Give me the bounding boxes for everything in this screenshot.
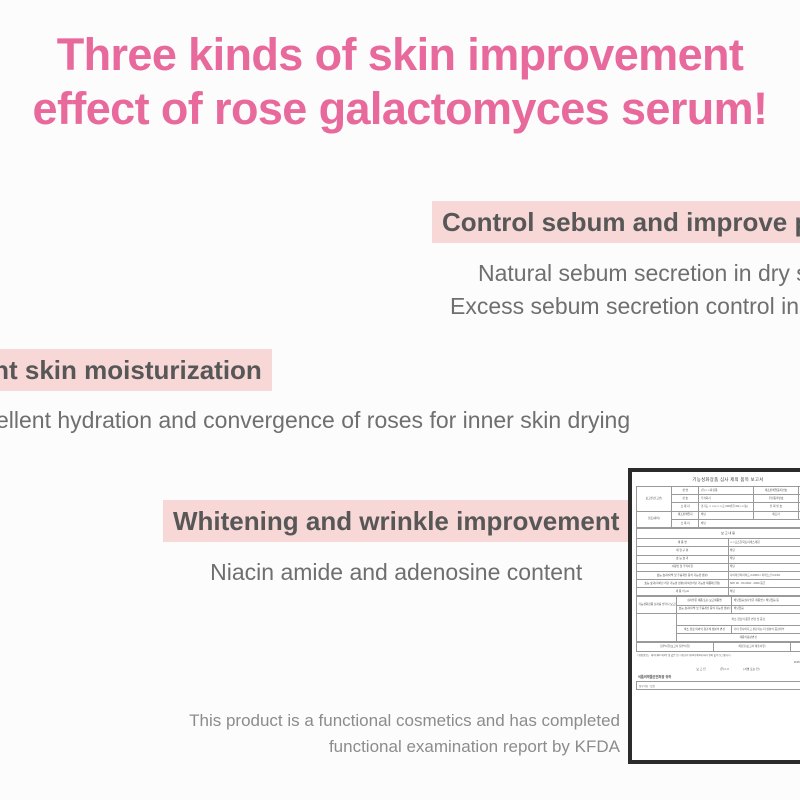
cell-label: 제품의용량변경 xyxy=(677,634,800,642)
table-row: 효능·효과(미백 및 주름개선 등의 기능성 성분) 나이아신아마이드 0.00… xyxy=(637,571,800,579)
cell-label: 효 능 효 과 xyxy=(637,555,729,563)
promo-page: Three kinds of skin improvement effect o… xyxy=(0,0,800,800)
cell-value: 나이아신아마이드 0.000% / 아데노신 0.04% xyxy=(728,571,800,579)
benefit-body-line-2: Excess sebum secretion control in oily s xyxy=(450,290,800,323)
cell-value: 해당 xyxy=(728,563,800,571)
table-row: 참조(대리) 제조판매업자 해당 제조자 해당 xyxy=(637,511,800,519)
cell-label: 제조판매업등록번호 xyxy=(754,487,798,495)
cell-value: 기타 유사하다고 판단되는 타 성분의 증감여부 xyxy=(732,626,800,634)
benefit-body-line-1: Niacin amide and adenosine content xyxy=(163,556,629,589)
kfda-footnote: This product is a functional cosmetics a… xyxy=(120,708,620,760)
cell-label: 첨부서류(보고서 첨부서류) xyxy=(637,643,714,651)
relation-group-label: 기능성화장품 심사를 받거나 보고한 품목과의 관계 xyxy=(637,597,677,613)
cell-label: 성 명 xyxy=(671,487,699,495)
certificate-date: 2016년 10월 10일 xyxy=(636,660,800,664)
reporter-group-label: 보고인(신고인) xyxy=(637,487,672,512)
table-row: 기능성화장품 심사를 받거나 보고한 품목과의 관계 심사받은 제품 또는 보고… xyxy=(637,597,800,605)
certificate-document: 기능성화장품 심사 제외 품목 보고서 [제 보고인(신고인) 성 명 (주)ㅇ… xyxy=(632,472,800,760)
table-row: 사용법 및 주의사항 해당 xyxy=(637,563,800,571)
certificate-footer-note: 첨부서류 : 없음 xyxy=(636,681,800,690)
kfda-certificate-image: 기능성화장품 심사 제외 품목 보고서 [제 보고인(신고인) 성 명 (주)ㅇ… xyxy=(628,468,800,764)
table-row: 효능·효과(자외선 차단 기능성 성분)(자외선차단 기능성 제품에 한함) S… xyxy=(637,580,800,588)
cell-value: 해당 xyxy=(728,555,800,563)
benefit-heading-moisturization: tant skin moisturization xyxy=(0,349,272,391)
cell-value: 해당 xyxy=(699,519,800,527)
certificate-agency: 식품의약품안전처장 귀하 xyxy=(636,674,800,679)
cell-label: 효능·효과(자외선 차단 기능성 성분)(자외선차단 기능성 제품에 한함) xyxy=(637,580,729,588)
page-title-line-2: effect of rose galactomyces serum! xyxy=(0,82,800,136)
certificate-signature-row: 보 고 인 (주)ㅇㅇ (서명 또는 인) xyxy=(636,667,800,671)
cell-value: SPF 00 · PA 0000 · 0000 등급 xyxy=(728,580,800,588)
cell-value: 해당 xyxy=(699,511,754,519)
benefit-body-moisturization: ellent hydration and convergence of rose… xyxy=(0,404,630,437)
benefit-body-whitening-wrinkle: Niacin amide and adenosine content xyxy=(163,556,629,589)
benefit-body-line-1: Natural sebum secretion in dry s xyxy=(478,257,800,290)
cell-label: 제조판매업자 xyxy=(671,511,699,519)
page-title-line-1: Three kinds of skin improvement xyxy=(0,28,800,82)
signature-role: 보 고 인 xyxy=(696,667,705,671)
cell-label: 제 품 의 pH xyxy=(637,588,729,596)
agent-group-label: 참조(대리) xyxy=(637,511,672,527)
certificate-relation-table: 기능성화장품 심사를 받거나 보고한 품목과의 관계 심사받은 제품 또는 보고… xyxy=(636,596,800,642)
cell-label: 전 화 번 호 xyxy=(754,503,798,511)
certificate-title-row: 기능성화장품 심사 제외 품목 보고서 [제 xyxy=(636,477,800,483)
cell-label: 제 품 명 xyxy=(637,539,729,547)
cell-label: 제조자 xyxy=(754,511,798,519)
cell-value: 주식회사 xyxy=(699,495,754,503)
page-title: Three kinds of skin improvement effect o… xyxy=(0,28,800,136)
cell-value: (주)ㅇㅇ화장품 xyxy=(699,487,754,495)
table-row: 보 고 내 용 xyxy=(637,528,800,538)
kfda-footnote-line-2: functional examination report by KFDA xyxy=(120,734,620,760)
benefit-body-sebum-control: Natural sebum secretion in dry s Excess … xyxy=(432,257,800,323)
cell-label: 효능·효과(미백 및 주름개선 등의 기능성 성분) 함량의 증감 xyxy=(677,605,732,613)
cell-label: 소 재 지 xyxy=(671,519,699,527)
table-row: 제 품 의 pH 해당 xyxy=(637,588,800,596)
cell-label: 효능·효과(미백 및 주름개선 등의 기능성 성분) xyxy=(637,571,729,579)
certificate-legal-note: 「화장품법」 제4조의2 제1항 및 같은 법 시행규칙 제10조의3에 따라 … xyxy=(636,654,800,658)
table-row: 제 품 명 ㅇㅇ로즈갈락토미세스세럼 xyxy=(637,539,800,547)
signature-name: (주)ㅇㅇ xyxy=(720,667,730,671)
content-section-title: 보 고 내 용 xyxy=(637,528,800,538)
cell-label: 제출물(보고서 제출서류) xyxy=(713,643,790,651)
benefit-block-sebum-control: Control sebum and improve po Natural seb… xyxy=(432,201,800,323)
benefit-body-line-1: ellent hydration and convergence of rose… xyxy=(0,404,630,437)
cell-value: ㅇㅇ로즈갈락토미세스세럼 xyxy=(728,539,800,547)
extra-group-label xyxy=(637,613,677,642)
cell-value: 해당 xyxy=(728,588,800,596)
cell-label: 사용법 및 주의사항 xyxy=(637,563,729,571)
table-row: 제 형 구 분 해당 xyxy=(637,547,800,555)
table-row: 색소·향료의 종류 변경 및 증감 xyxy=(637,613,800,625)
cell-value: 경기도 ㅇㅇ시 ㅇㅇ로 000번길 00(ㅇㅇ동) xyxy=(699,503,754,511)
benefit-block-moisturization: tant skin moisturization ellent hydratio… xyxy=(0,349,630,437)
kfda-footnote-line-1: This product is a functional cosmetics a… xyxy=(120,708,620,734)
signature-seal: (서명 또는 인) xyxy=(743,667,759,671)
table-row: 보고인(신고인) 성 명 (주)ㅇㅇ화장품 제조판매업등록번호 제0000호 xyxy=(637,487,800,495)
benefit-heading-whitening-wrinkle: Whitening and wrinkle improvement xyxy=(163,500,629,542)
certificate-title: 기능성화장품 심사 제외 품목 보고서 xyxy=(692,477,763,483)
cell-value: 해당 xyxy=(728,547,800,555)
cell-value: 해당없음 xyxy=(732,605,800,613)
cell-label: 주민등록번호 xyxy=(754,495,798,503)
cell-label: 색소·향료의 종류 변경 및 증감 xyxy=(677,613,800,625)
cell-label: 색소·향료 이외의 첨가제 성분의 변경 xyxy=(677,626,732,634)
cell-label: 제 형 구 분 xyxy=(637,547,729,555)
benefit-block-whitening-wrinkle: Whitening and wrinkle improvement Niacin… xyxy=(163,500,629,589)
table-row: 첨부서류(보고서 첨부서류) 제출물(보고서 제출서류) 수 수 료 xyxy=(637,643,800,651)
certificate-reporter-table: 보고인(신고인) 성 명 (주)ㅇㅇ화장품 제조판매업등록번호 제0000호 상… xyxy=(636,486,800,528)
cell-label: 수 수 료 xyxy=(790,643,800,651)
cell-label: 심사받은 제품 또는 보고제품명 xyxy=(677,597,732,605)
benefit-heading-sebum-control: Control sebum and improve po xyxy=(432,201,800,243)
table-row: 효 능 효 과 해당 xyxy=(637,555,800,563)
cell-label: 소 재 지 xyxy=(671,503,699,511)
cell-label: 상 호 xyxy=(671,495,699,503)
certificate-attachment-table: 첨부서류(보고서 첨부서류) 제출물(보고서 제출서류) 수 수 료 xyxy=(636,642,800,651)
cell-value: 해당없음(심사받은 제품명) / 해당없음 등 xyxy=(732,597,800,605)
certificate-content-table: 보 고 내 용 제 품 명 ㅇㅇ로즈갈락토미세스세럼 제 형 구 분 해당 효 … xyxy=(636,528,800,597)
